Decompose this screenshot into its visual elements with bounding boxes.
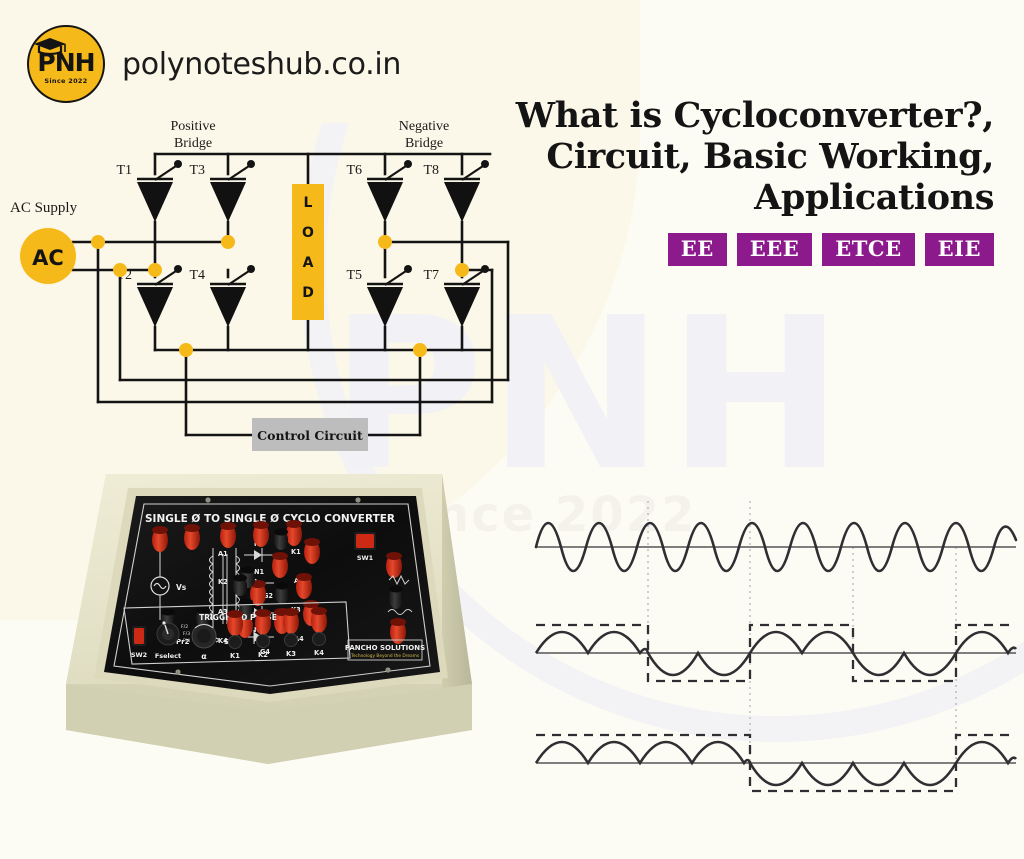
panel-title-text: SINGLE Ø TO SINGLE Ø CYCLO CONVERTER [145, 513, 395, 525]
source-label-vs: Vs [176, 583, 187, 592]
output-half-freq-trace-neg-1 [648, 653, 750, 675]
load-letter-o: O [302, 225, 314, 241]
sw1-rocker-switch[interactable]: SW1 [354, 532, 376, 562]
graduation-cap-icon [33, 37, 67, 55]
cycloconverter-waveform-chart [528, 485, 1024, 830]
socket-label-k4: K4 [314, 649, 324, 657]
negative-bridge-label-line1: Negative [399, 119, 450, 134]
maker-name: PANCHO SOLUTIONS [345, 644, 425, 652]
positive-bridge-label-line2: Bridge [174, 136, 212, 151]
output-half-freq-trace-pos-3 [956, 632, 1016, 653]
svg-text:T1: T1 [116, 163, 132, 178]
tag-eie[interactable]: EIE [925, 233, 994, 266]
output-quarter-freq-trace-pos-2 [956, 742, 1016, 763]
waveform-row-output-quarter-freq [536, 735, 1016, 791]
fselect-option-3: F/4 [183, 638, 190, 644]
load-letter-a: A [303, 255, 314, 271]
subject-tag-list: EE EEE ETCE EIE [474, 233, 994, 266]
page-title-line-2: Circuit, Basic Working, [474, 137, 994, 178]
label-k1: K1 [291, 548, 301, 556]
cycloconverter-trainer-kit-photo: SINGLE Ø TO SINGLE Ø CYCLO CONVERTER Vs [58, 462, 488, 772]
logo-circle-badge: PNH Since 2022 [27, 25, 105, 103]
negative-bridge-label-line2: Bridge [405, 136, 443, 151]
maker-tagline: Technology Beyond the Dreams [350, 653, 420, 659]
sw2-rocker-switch[interactable]: SW2 [131, 626, 147, 659]
thyristor-t3: T3 [189, 160, 255, 222]
cycloconverter-circuit-diagram: L O A D AC AC Supply Positive Bridge Neg… [0, 112, 530, 462]
fselect-option-1: F/2 [181, 624, 188, 630]
thyristor-t4: T4 [189, 265, 255, 327]
waveform-row-input-ac [536, 523, 1016, 571]
svg-text:T4: T4 [189, 268, 205, 283]
tag-eee[interactable]: EEE [737, 233, 813, 266]
output-quarter-freq-trace-pos-1 [536, 742, 750, 763]
thyristor-t6: T6 [346, 160, 412, 222]
ac-supply-label: AC Supply [10, 200, 78, 216]
label-k4: K4 [218, 637, 228, 645]
load-letter-d: D [302, 285, 314, 301]
control-circuit-label: Control Circuit [257, 428, 363, 443]
svg-text:T3: T3 [189, 163, 205, 178]
svg-text:T6: T6 [346, 163, 362, 178]
alpha-label: α [201, 652, 207, 661]
thyristor-t5: T5 [346, 265, 412, 327]
socket-label-k1: K1 [230, 652, 240, 660]
svg-text:T7: T7 [423, 268, 439, 283]
site-logo[interactable]: PNH Since 2022 polynoteshub.co.in [27, 25, 401, 103]
tag-etce[interactable]: ETCE [822, 233, 914, 266]
output-half-freq-trace-pos-1 [536, 632, 648, 653]
page-title-line-1: What is Cycloconverter?, [474, 96, 994, 137]
label-n1: N1 [254, 568, 265, 576]
logo-since-label: Since 2022 [44, 77, 87, 85]
label-k2: K2 [218, 578, 228, 586]
output-half-freq-trace-pos-2 [750, 632, 853, 653]
output-half-freq-trace-neg-2 [853, 653, 956, 675]
svg-text:T5: T5 [346, 268, 362, 283]
headline-block: What is Cycloconverter?, Circuit, Basic … [474, 96, 994, 266]
waveform-row-output-half-freq [536, 625, 1016, 681]
socket-label-k3: K3 [286, 650, 296, 658]
waveform-guide-lines [648, 501, 956, 763]
thyristor-t7: T7 [423, 265, 489, 327]
page-title-line-3: Applications [474, 178, 994, 219]
svg-text:T8: T8 [423, 163, 439, 178]
site-domain-text: polynoteshub.co.in [122, 47, 401, 82]
fselect-option-2: F/3 [183, 631, 190, 637]
socket-label-k2: K2 [258, 651, 268, 659]
thyristor-t2: T2 [116, 265, 182, 327]
tag-ee[interactable]: EE [668, 233, 727, 266]
output-quarter-freq-trace-neg-1 [750, 763, 956, 785]
sw2-label: SW2 [131, 651, 147, 659]
ac-source-label: AC [32, 246, 64, 270]
fselect-label: Fselect [155, 652, 181, 660]
label-a1: A1 [218, 550, 228, 558]
thyristor-t1: T1 [116, 160, 182, 222]
load-letter-l: L [304, 195, 313, 211]
positive-bridge-label-line1: Positive [170, 119, 215, 134]
infographic-canvas: PNH Since 2022 PNH Since 2022 polynotesh… [0, 0, 1024, 859]
sw1-label: SW1 [357, 554, 374, 562]
